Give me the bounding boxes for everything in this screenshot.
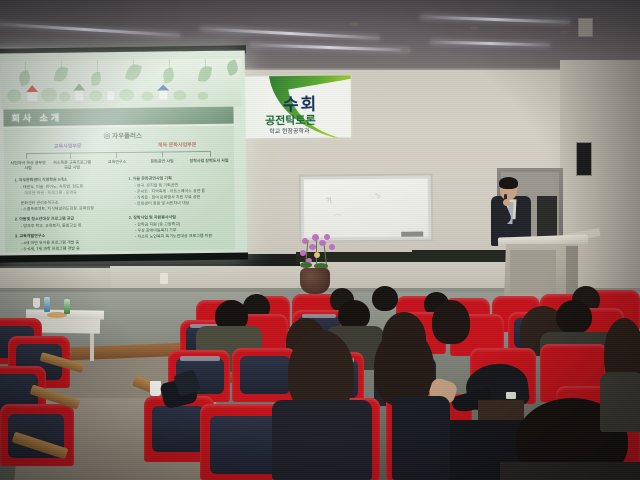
- presenter-hand: [503, 199, 510, 206]
- cap-logo-icon: [506, 392, 516, 399]
- door-shadow: [537, 196, 557, 238]
- whiteboard-marks: ?|: [325, 197, 332, 205]
- ceiling-fixture: [350, 22, 359, 26]
- wainscot-panel: [300, 262, 525, 290]
- podium-panel: [510, 250, 556, 294]
- wall-speaker: [576, 142, 592, 176]
- attendee-torso: [600, 372, 640, 432]
- wall-banner: 수회 공전탁토론 학교 현장공학과: [238, 74, 353, 139]
- audience-head: [372, 286, 398, 311]
- attendee-shoulders: [500, 462, 640, 480]
- whiteboard: ?| ಿ೦ ⌒: [299, 173, 434, 242]
- ceiling-light: [0, 22, 180, 37]
- flower-pot: [300, 268, 330, 294]
- lecture-hall-photo: 수회 공전탁토론 학교 현장공학과: [0, 0, 640, 480]
- power-outlet: [160, 273, 168, 284]
- ceiling-fixture: [470, 26, 479, 30]
- whiteboard-marks: ⌒: [334, 213, 341, 223]
- whiteboard-surface: ?| ಿ೦ ⌒: [304, 178, 429, 237]
- whiteboard-marks: ಿ೦: [370, 192, 382, 201]
- attendee-hair: [374, 328, 434, 406]
- ceiling-light: [200, 27, 380, 39]
- attendee-torso: [272, 400, 372, 480]
- audience-head: [556, 300, 592, 334]
- ceiling-light: [250, 43, 410, 52]
- whiteboard-tray: [401, 232, 423, 237]
- attendee-torso: [392, 396, 450, 480]
- wall-fixture: [578, 18, 593, 37]
- banner-line3: 학교 현장공학과: [269, 126, 309, 135]
- water-bottle: [64, 299, 70, 314]
- audience-hair: [432, 300, 470, 344]
- ceiling-light: [430, 40, 550, 46]
- ceiling-fixture: [560, 30, 569, 34]
- ceiling-light: [420, 15, 570, 23]
- presenter-hair: [499, 177, 518, 189]
- armrest-cup: [150, 381, 161, 396]
- table-leg: [90, 331, 94, 361]
- screen-glare: [0, 50, 247, 259]
- projection-screen: 회사 소개 ㉧ 자우플러스 교육사업부문 체육·문화사업부문 서민자녀 무상 공…: [0, 50, 247, 259]
- water-bottle: [44, 297, 50, 312]
- ceiling-fixture: [400, 48, 409, 52]
- paper-cup: [33, 298, 40, 308]
